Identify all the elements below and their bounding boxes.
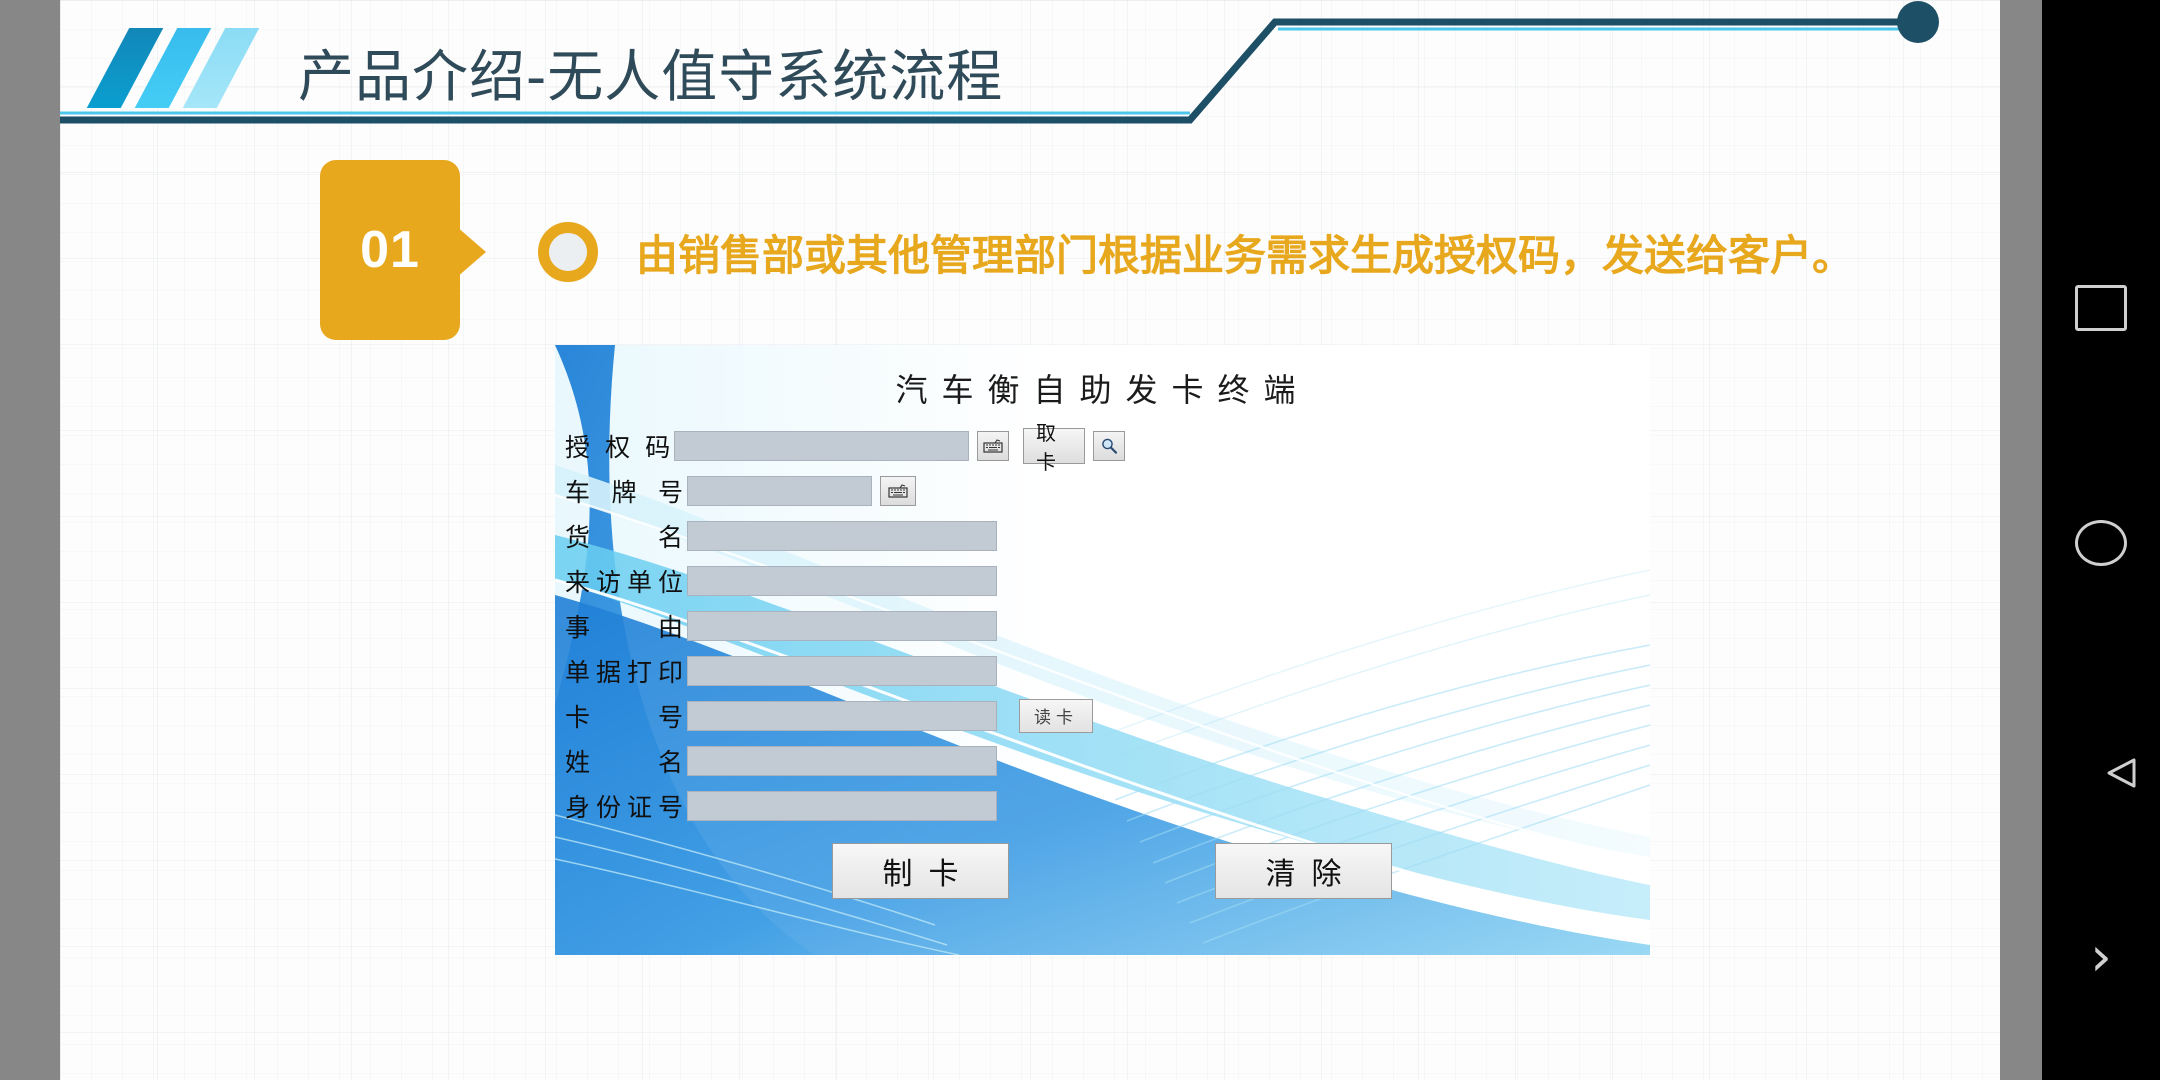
field-input-id-number[interactable] [687, 791, 997, 821]
read-card-button[interactable]: 读卡 [1019, 699, 1093, 733]
letterbox-left [0, 0, 60, 1080]
form-row-receipt-print: 单据打印 [565, 648, 1125, 693]
take-card-button[interactable]: 取卡 [1023, 428, 1085, 464]
form-row-person-name: 姓名 [565, 738, 1125, 783]
field-label-plate-number: 车牌号 [565, 473, 687, 509]
keyboard-icon-button-plate-number[interactable] [880, 476, 916, 506]
make-card-button[interactable]: 制卡 [832, 843, 1009, 899]
field-label-visiting-company: 来访单位 [565, 563, 687, 599]
field-label-goods-name: 货名 [565, 518, 687, 554]
field-label-person-name: 姓名 [565, 743, 687, 779]
slanted-stripes-logo [100, 28, 270, 108]
field-label-card-number: 卡号 [565, 698, 687, 734]
field-input-reason[interactable] [687, 611, 997, 641]
field-label-id-number: 身份证号 [565, 788, 687, 824]
terminal-form: 授权码 取卡 车 [565, 423, 1125, 828]
clear-button[interactable]: 清除 [1215, 843, 1392, 899]
step-description: 由销售部或其他管理部门根据业务需求生成授权码，发送给客户。 [636, 222, 1854, 283]
field-label-auth-code: 授权码 [565, 428, 674, 464]
form-row-visiting-company: 来访单位 [565, 558, 1125, 603]
field-label-receipt-print: 单据打印 [565, 653, 687, 689]
field-input-plate-number[interactable] [687, 476, 872, 506]
step-badge-ring-icon [538, 222, 598, 282]
form-row-plate-number: 车牌号 [565, 468, 1125, 513]
letterbox-right [2000, 0, 2042, 1080]
keyboard-icon [888, 484, 908, 498]
field-input-auth-code[interactable] [674, 431, 968, 461]
back-triangle-glyph [2101, 750, 2147, 796]
terminal-title: 汽车衡自助发卡终端 [555, 365, 1650, 411]
step-badge-arrow-icon [456, 226, 486, 278]
form-row-auth-code: 授权码 取卡 [565, 423, 1125, 468]
field-input-person-name[interactable] [687, 746, 997, 776]
search-icon [1100, 437, 1118, 455]
chevron-right-icon[interactable]: › [2090, 930, 2112, 984]
form-row-card-number: 卡号 读卡 [565, 693, 1125, 738]
slide-canvas: 产品介绍-无人值守系统流程 01 由销售部或其他管理部门根据业务需求生成授权码，… [60, 0, 2000, 1080]
form-row-id-number: 身份证号 [565, 783, 1125, 828]
field-input-card-number[interactable] [687, 701, 997, 731]
search-icon-button[interactable] [1093, 431, 1125, 461]
page-title: 产品介绍-无人值守系统流程 [298, 32, 1003, 113]
terminal-screenshot: 汽车衡自助发卡终端 授权码 取卡 [555, 345, 1650, 955]
step-number-label: 01 [320, 220, 460, 280]
keyboard-icon [983, 439, 1003, 453]
field-input-receipt-print[interactable] [687, 656, 997, 686]
field-label-reason: 事由 [565, 608, 687, 644]
field-input-visiting-company[interactable] [687, 566, 997, 596]
android-navigation-bar: › [2042, 0, 2160, 1080]
form-row-goods-name: 货名 [565, 513, 1125, 558]
step-number-badge: 01 [320, 160, 460, 340]
recents-square-icon[interactable] [2075, 285, 2127, 331]
home-circle-icon[interactable] [2075, 520, 2127, 566]
field-input-goods-name[interactable] [687, 521, 997, 551]
keyboard-icon-button-auth-code[interactable] [977, 431, 1009, 461]
form-row-reason: 事由 [565, 603, 1125, 648]
